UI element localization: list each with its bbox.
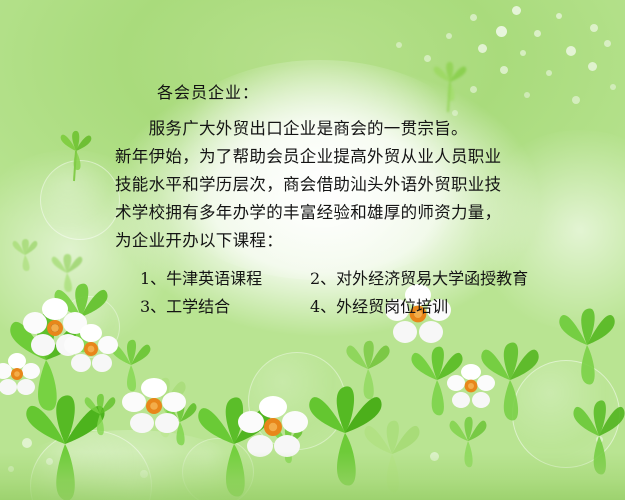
body-line: 为企业开办以下课程： <box>115 227 575 255</box>
body-line: 新年伊始，为了帮助会员企业提高外贸从业人员职业 <box>115 143 575 171</box>
salutation-line: 各会员企业： <box>157 79 259 103</box>
course-item: 4、外经贸岗位培训 <box>310 293 448 321</box>
body-line: 术学校拥有多年办学的丰富经验和雄厚的师资力量， <box>115 199 575 227</box>
body-line: 技能水平和学历层次，商会借助汕头外语外贸职业技 <box>115 171 575 199</box>
course-item: 3、工学结合 <box>140 293 310 321</box>
notice-text-content: 各会员企业： 服务广大外贸出口企业是商会的一贯宗旨。 新年伊始，为了帮助会员企业… <box>0 0 625 500</box>
course-row: 3、工学结合 4、外经贸岗位培训 <box>140 293 590 321</box>
course-item: 1、牛津英语课程 <box>140 265 310 293</box>
announcement-poster: 各会员企业： 服务广大外贸出口企业是商会的一贯宗旨。 新年伊始，为了帮助会员企业… <box>0 0 625 500</box>
course-row: 1、牛津英语课程 2、对外经济贸易大学函授教育 <box>140 265 590 293</box>
body-line: 服务广大外贸出口企业是商会的一贯宗旨。 <box>115 115 575 143</box>
course-item: 2、对外经济贸易大学函授教育 <box>310 265 528 293</box>
body-paragraph: 服务广大外贸出口企业是商会的一贯宗旨。 新年伊始，为了帮助会员企业提高外贸从业人… <box>115 115 575 255</box>
course-list: 1、牛津英语课程 2、对外经济贸易大学函授教育 3、工学结合 4、外经贸岗位培训 <box>140 265 590 321</box>
